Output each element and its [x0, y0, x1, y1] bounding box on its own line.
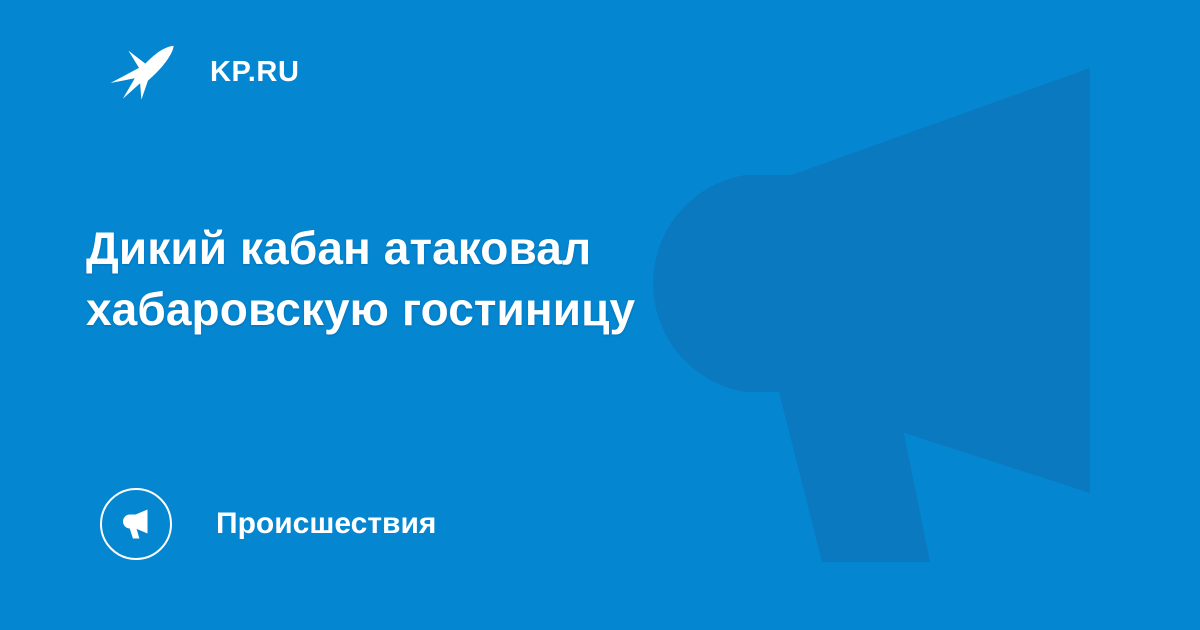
category-icon-circle: [100, 488, 172, 560]
brand-name: KP.RU: [210, 58, 300, 87]
category-badge[interactable]: Происшествия: [100, 488, 436, 560]
megaphone-icon: [116, 504, 156, 544]
headline: Дикий кабан атаковал хабаровскую гостини…: [86, 218, 826, 340]
swallow-bird-icon: [108, 36, 180, 108]
news-share-card: KP.RU Дикий кабан атаковал хабаровскую г…: [0, 0, 1200, 630]
brand-logo[interactable]: KP.RU: [108, 36, 300, 108]
category-label: Происшествия: [216, 509, 436, 539]
